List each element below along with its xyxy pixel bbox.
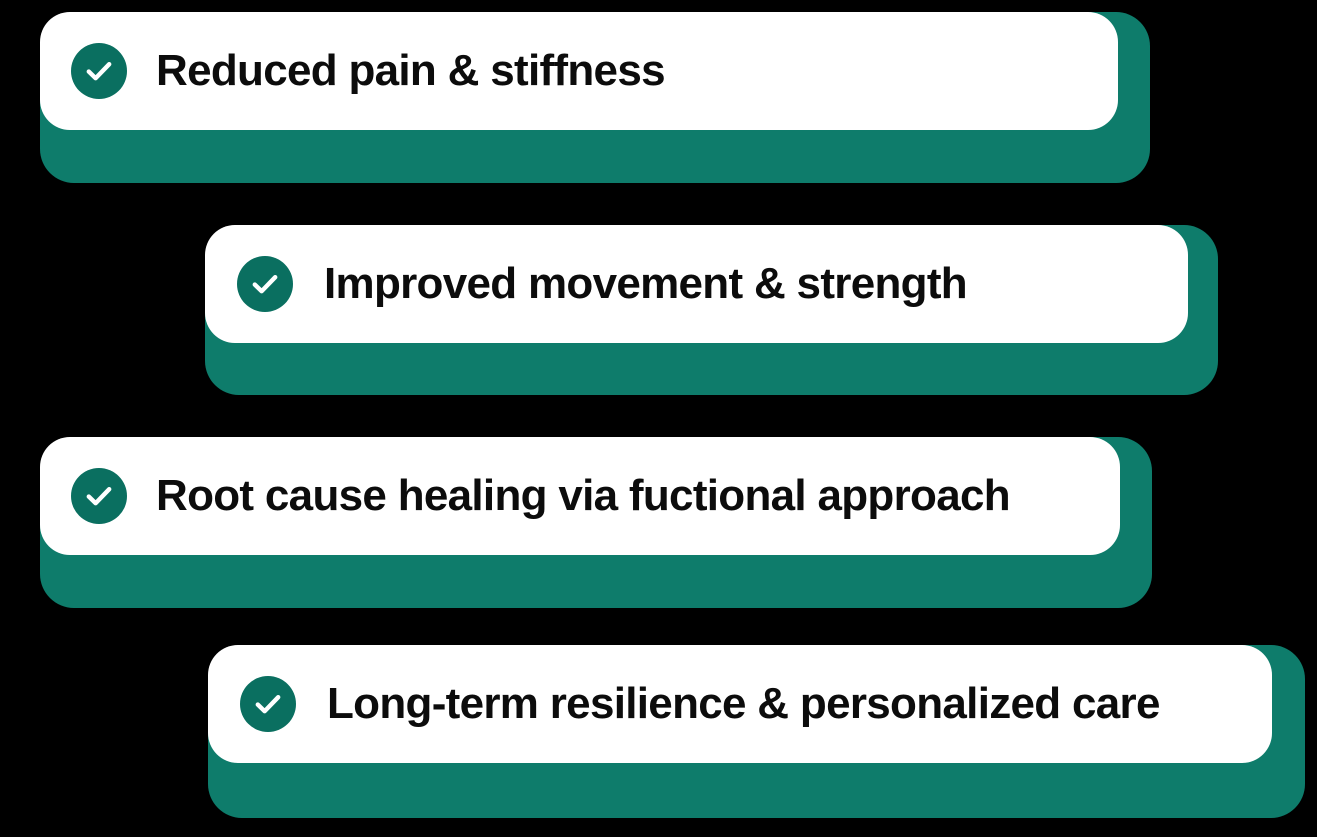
benefit-item[interactable]: Root cause healing via fuctional approac… [40, 437, 1152, 608]
benefit-label: Root cause healing via fuctional approac… [156, 474, 1010, 518]
benefit-card[interactable]: Reduced pain & stiffness [40, 12, 1118, 130]
benefit-label: Improved movement & strength [324, 262, 967, 306]
benefit-label: Reduced pain & stiffness [156, 49, 665, 93]
benefit-item[interactable]: Reduced pain & stiffness [40, 12, 1150, 183]
benefit-item[interactable]: Long-term resilience & personalized care [208, 645, 1305, 818]
check-circle-icon [237, 256, 293, 312]
benefit-card[interactable]: Improved movement & strength [205, 225, 1188, 343]
benefit-card[interactable]: Long-term resilience & personalized care [208, 645, 1272, 763]
benefits-list: Reduced pain & stiffness Improved moveme… [0, 0, 1317, 837]
benefit-item[interactable]: Improved movement & strength [205, 225, 1218, 395]
benefit-card[interactable]: Root cause healing via fuctional approac… [40, 437, 1120, 555]
check-circle-icon [71, 43, 127, 99]
check-circle-icon [240, 676, 296, 732]
check-circle-icon [71, 468, 127, 524]
benefit-label: Long-term resilience & personalized care [327, 682, 1160, 726]
